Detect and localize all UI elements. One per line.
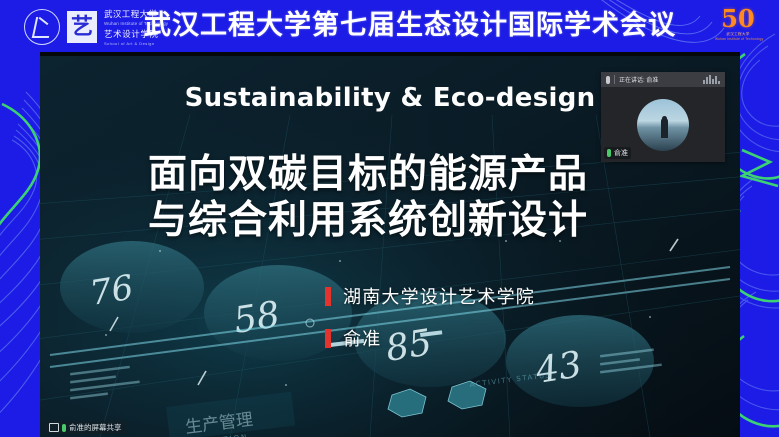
audio-waveform-icon bbox=[703, 75, 720, 84]
divider bbox=[614, 75, 615, 84]
screen-share-indicator: 俞准的屏幕共享 bbox=[45, 421, 126, 434]
school-logo-glyph: 艺 bbox=[70, 14, 94, 40]
anniversary-caption-en: Wuhan Institute of Technology bbox=[715, 37, 761, 41]
anniversary-number: 50 bbox=[715, 6, 761, 32]
conference-header: 艺 武汉工程大学 Wuhan Institute of Technology 艺… bbox=[0, 0, 779, 52]
red-bullet-icon bbox=[325, 329, 331, 348]
speaking-status-text: 正在讲话: 俞准 bbox=[619, 75, 699, 84]
screen-share-label: 俞准的屏幕共享 bbox=[69, 422, 122, 433]
speaker-row: 俞准 bbox=[325, 325, 535, 351]
screen-share-icon bbox=[49, 423, 59, 432]
slide-affiliation-block: 湖南大学设计艺术学院 俞准 bbox=[325, 283, 535, 367]
svg-text:58: 58 bbox=[231, 294, 283, 342]
university-emblem-icon bbox=[24, 9, 60, 45]
slide-title-line-2: 与综合利用系统创新设计 bbox=[148, 198, 618, 244]
avatar-silhouette bbox=[661, 118, 668, 138]
slide-title-line-1: 面向双碳目标的能源产品 bbox=[148, 152, 618, 198]
speaker-name: 俞准 bbox=[343, 325, 381, 351]
svg-text:43: 43 bbox=[532, 344, 585, 392]
screen-share-window: 艺 武汉工程大学 Wuhan Institute of Technology 艺… bbox=[0, 0, 779, 437]
slide-title: 面向双碳目标的能源产品 与综合利用系统创新设计 bbox=[148, 152, 618, 244]
microphone-icon bbox=[607, 149, 611, 157]
anniversary-logo: 50 武汉工程大学 Wuhan Institute of Technology bbox=[715, 6, 761, 48]
microphone-icon bbox=[606, 76, 610, 84]
letterbox-bar bbox=[40, 52, 740, 56]
microphone-icon bbox=[62, 424, 66, 432]
participant-avatar bbox=[637, 99, 689, 151]
svg-text:76: 76 bbox=[87, 268, 136, 314]
participant-name-badge: 俞准 bbox=[604, 147, 631, 159]
participant-name: 俞准 bbox=[614, 148, 628, 158]
participant-video-tile[interactable]: 正在讲话: 俞准 俞准 bbox=[601, 72, 725, 162]
conference-title: 武汉工程大学第七届生态设计国际学术会议 bbox=[144, 9, 624, 43]
affiliation-row: 湖南大学设计艺术学院 bbox=[325, 283, 535, 309]
participant-video-body[interactable]: 俞准 bbox=[601, 87, 725, 162]
tile-status-bar: 正在讲话: 俞准 bbox=[601, 72, 725, 87]
red-bullet-icon bbox=[325, 287, 331, 306]
school-logo-mark-icon: 艺 bbox=[67, 11, 97, 43]
affiliation-text: 湖南大学设计艺术学院 bbox=[343, 283, 535, 309]
